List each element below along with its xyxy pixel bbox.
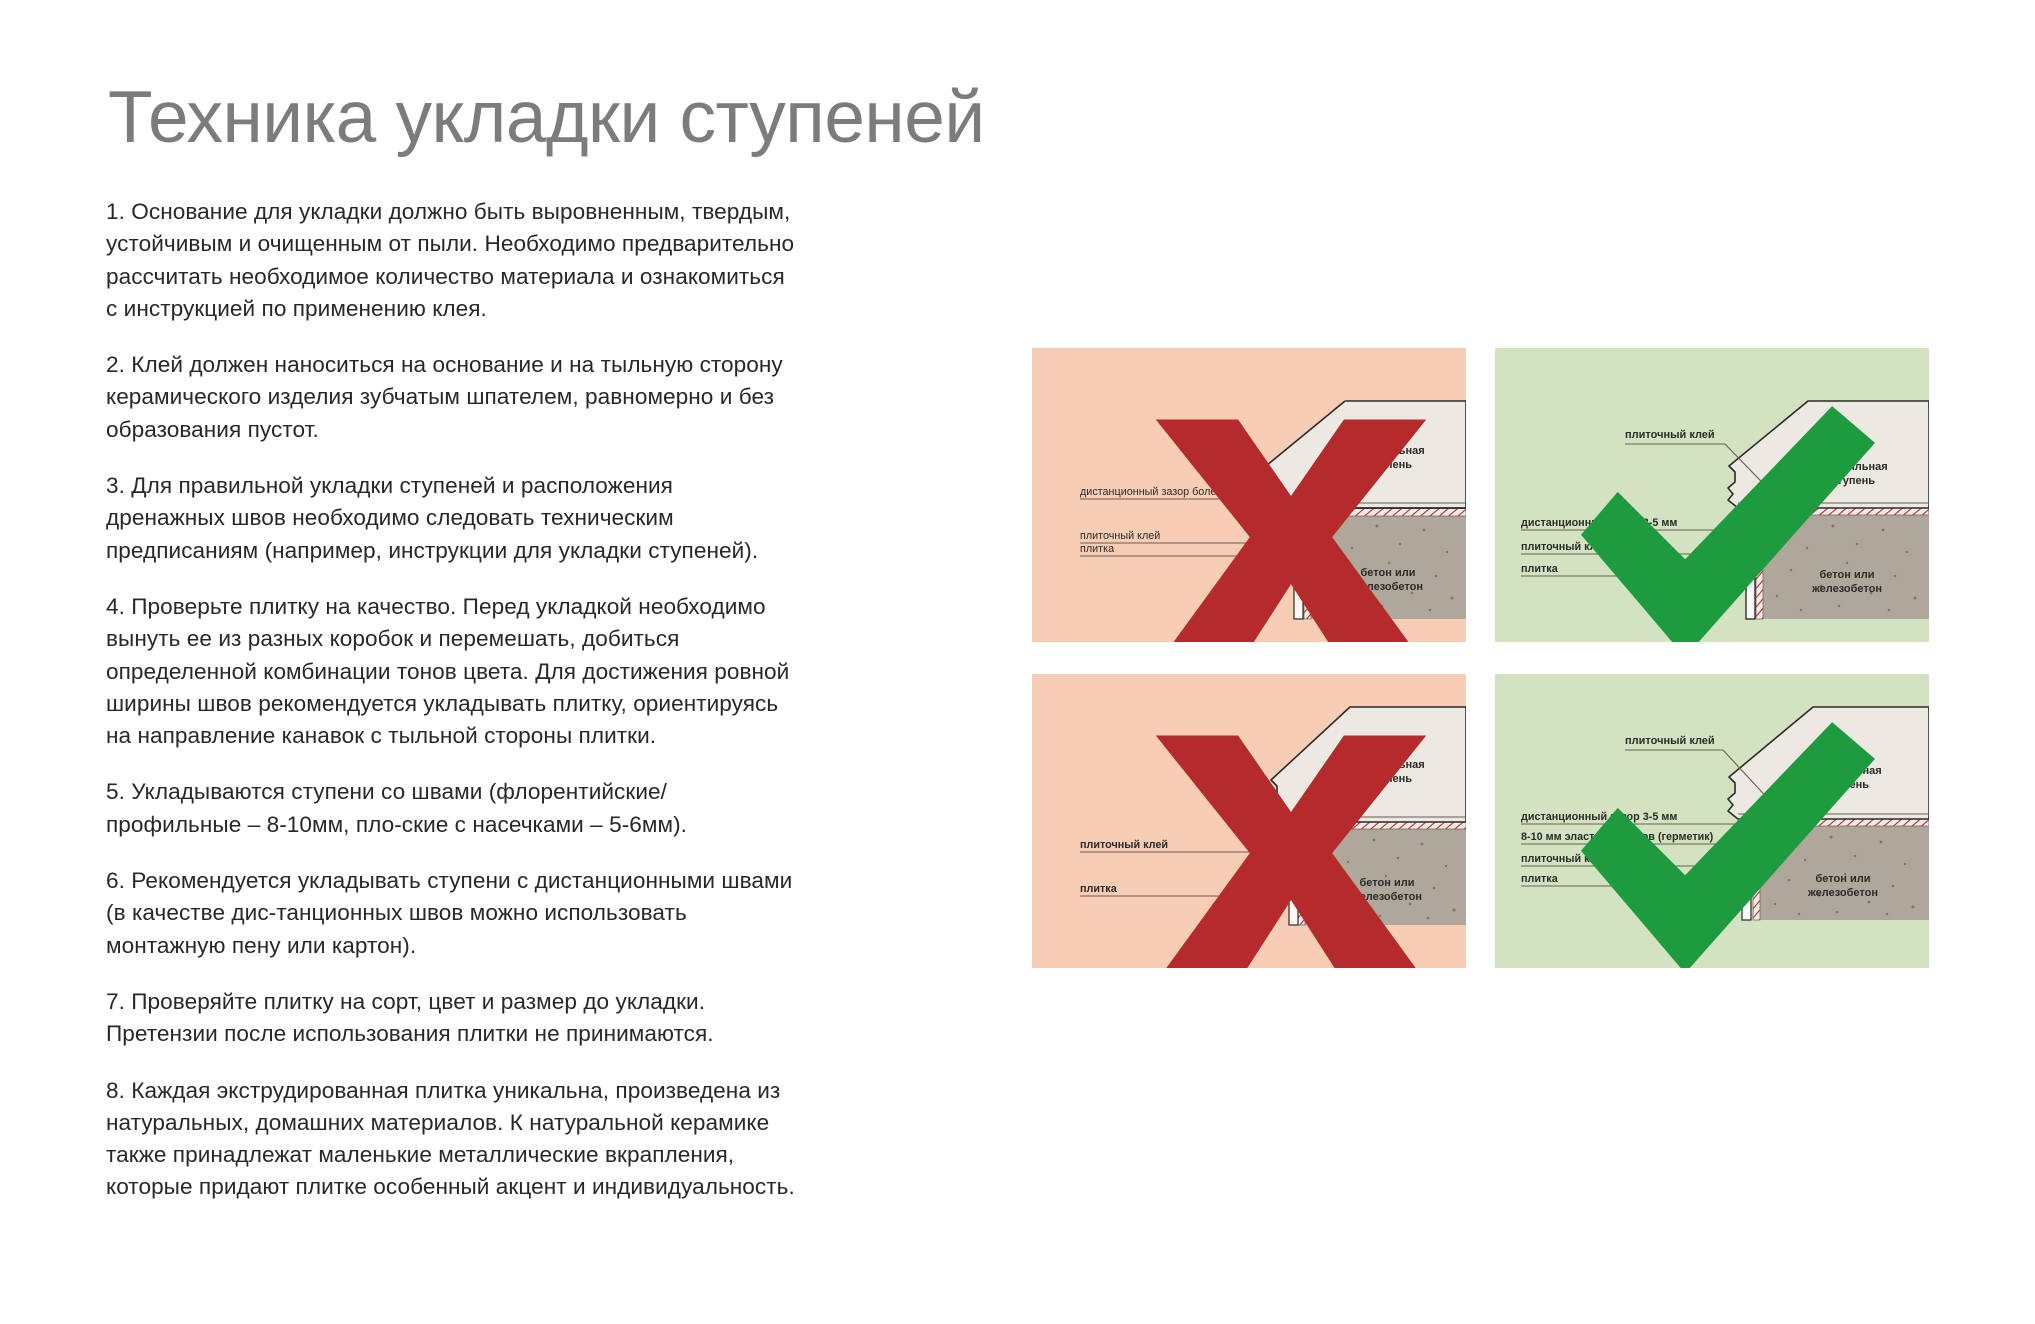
instruction-item: 3. Для правильной укладки ступеней и рас… [106,470,796,567]
instruction-item: 1. Основание для укладки должно быть выр… [106,196,796,325]
instruction-item: 7. Проверяйте плитку на сорт, цвет и раз… [106,986,796,1051]
instructions-list: 1. Основание для укладки должно быть выр… [106,196,796,1204]
panel-top-right: плиточный клей дистанционный зазор 3-5 м… [1495,348,1929,642]
check-icon [1511,716,1929,968]
instruction-item: 4. Проверьте плитку на качество. Перед у… [106,591,796,752]
check-icon [1511,400,1929,642]
cross-icon [1074,712,1466,968]
panel-bottom-left: плиточный клей плитка профильная ступень… [1032,674,1466,968]
cross-icon [1074,396,1466,642]
panel-top-left: дистанционный зазор более 5 мм плиточный… [1032,348,1466,642]
instruction-item: 5. Укладываются ступени со швами (флорен… [106,776,796,841]
instruction-item: 2. Клей должен наноситься на основание и… [106,349,796,446]
instruction-item: 8. Каждая экструдированная плитка уникал… [106,1075,796,1204]
page-title: Техника укладки ступеней [108,81,985,154]
instruction-item: 6. Рекомендуется укладывать ступени с ди… [106,865,796,962]
panel-bottom-right: плиточный клей дистанционный зазор 3-5 м… [1495,674,1929,968]
diagram-grid: дистанционный зазор более 5 мм плиточный… [1032,348,1929,968]
